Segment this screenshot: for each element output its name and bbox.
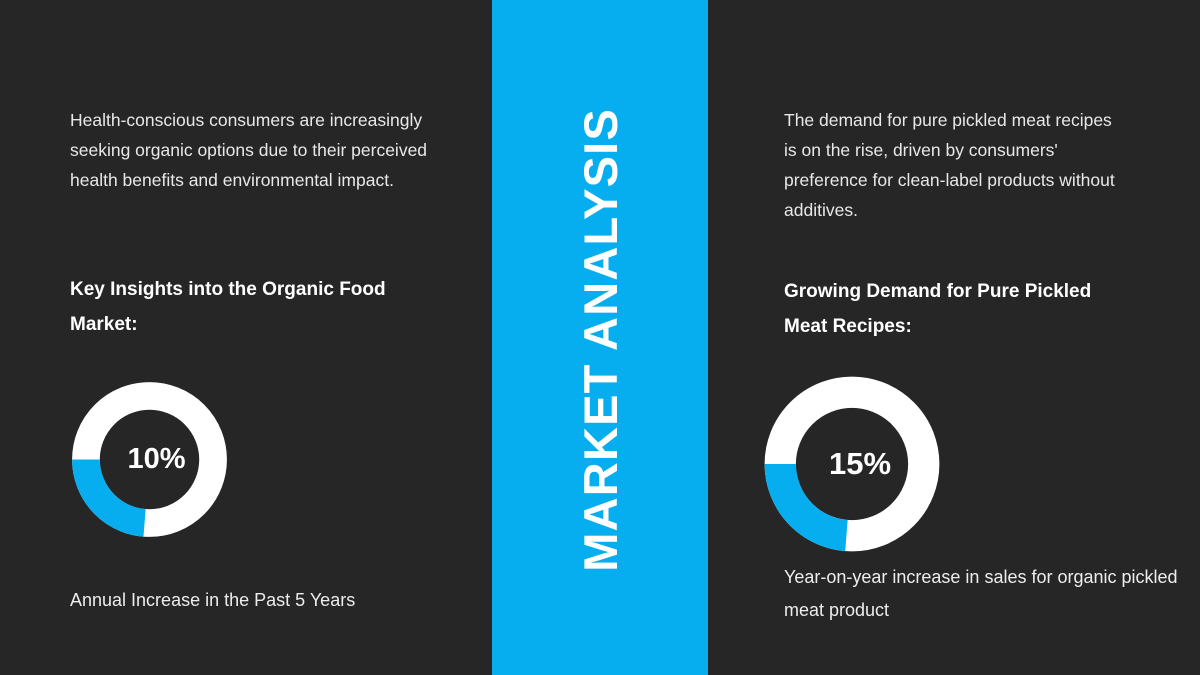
- left-column: Health-conscious consumers are increasin…: [0, 0, 492, 675]
- left-section-heading: Key Insights into the Organic Food Marke…: [70, 272, 445, 342]
- donut-chart-organic-food: 10%: [68, 378, 231, 541]
- left-intro-paragraph: Health-conscious consumers are increasin…: [70, 105, 445, 195]
- donut-value-arc-left: [86, 460, 145, 523]
- right-column: The demand for pure pickled meat recipes…: [708, 0, 1200, 675]
- banner-title: MARKET ANALYSIS: [577, 104, 624, 572]
- donut-value-arc-right: [780, 464, 846, 536]
- right-donut-caption: Year-on-year increase in sales for organ…: [784, 561, 1184, 627]
- left-donut-caption: Annual Increase in the Past 5 Years: [70, 584, 470, 617]
- center-banner: MARKET ANALYSIS: [492, 0, 708, 675]
- donut-chart-pickled-meat: 15%: [760, 372, 944, 556]
- right-intro-paragraph: The demand for pure pickled meat recipes…: [784, 105, 1124, 225]
- donut-svg-left: [68, 378, 231, 541]
- donut-svg-right: [760, 372, 944, 556]
- right-section-heading: Growing Demand for Pure Pickled Meat Rec…: [784, 274, 1124, 344]
- infographic-slide: Health-conscious consumers are increasin…: [0, 0, 1200, 675]
